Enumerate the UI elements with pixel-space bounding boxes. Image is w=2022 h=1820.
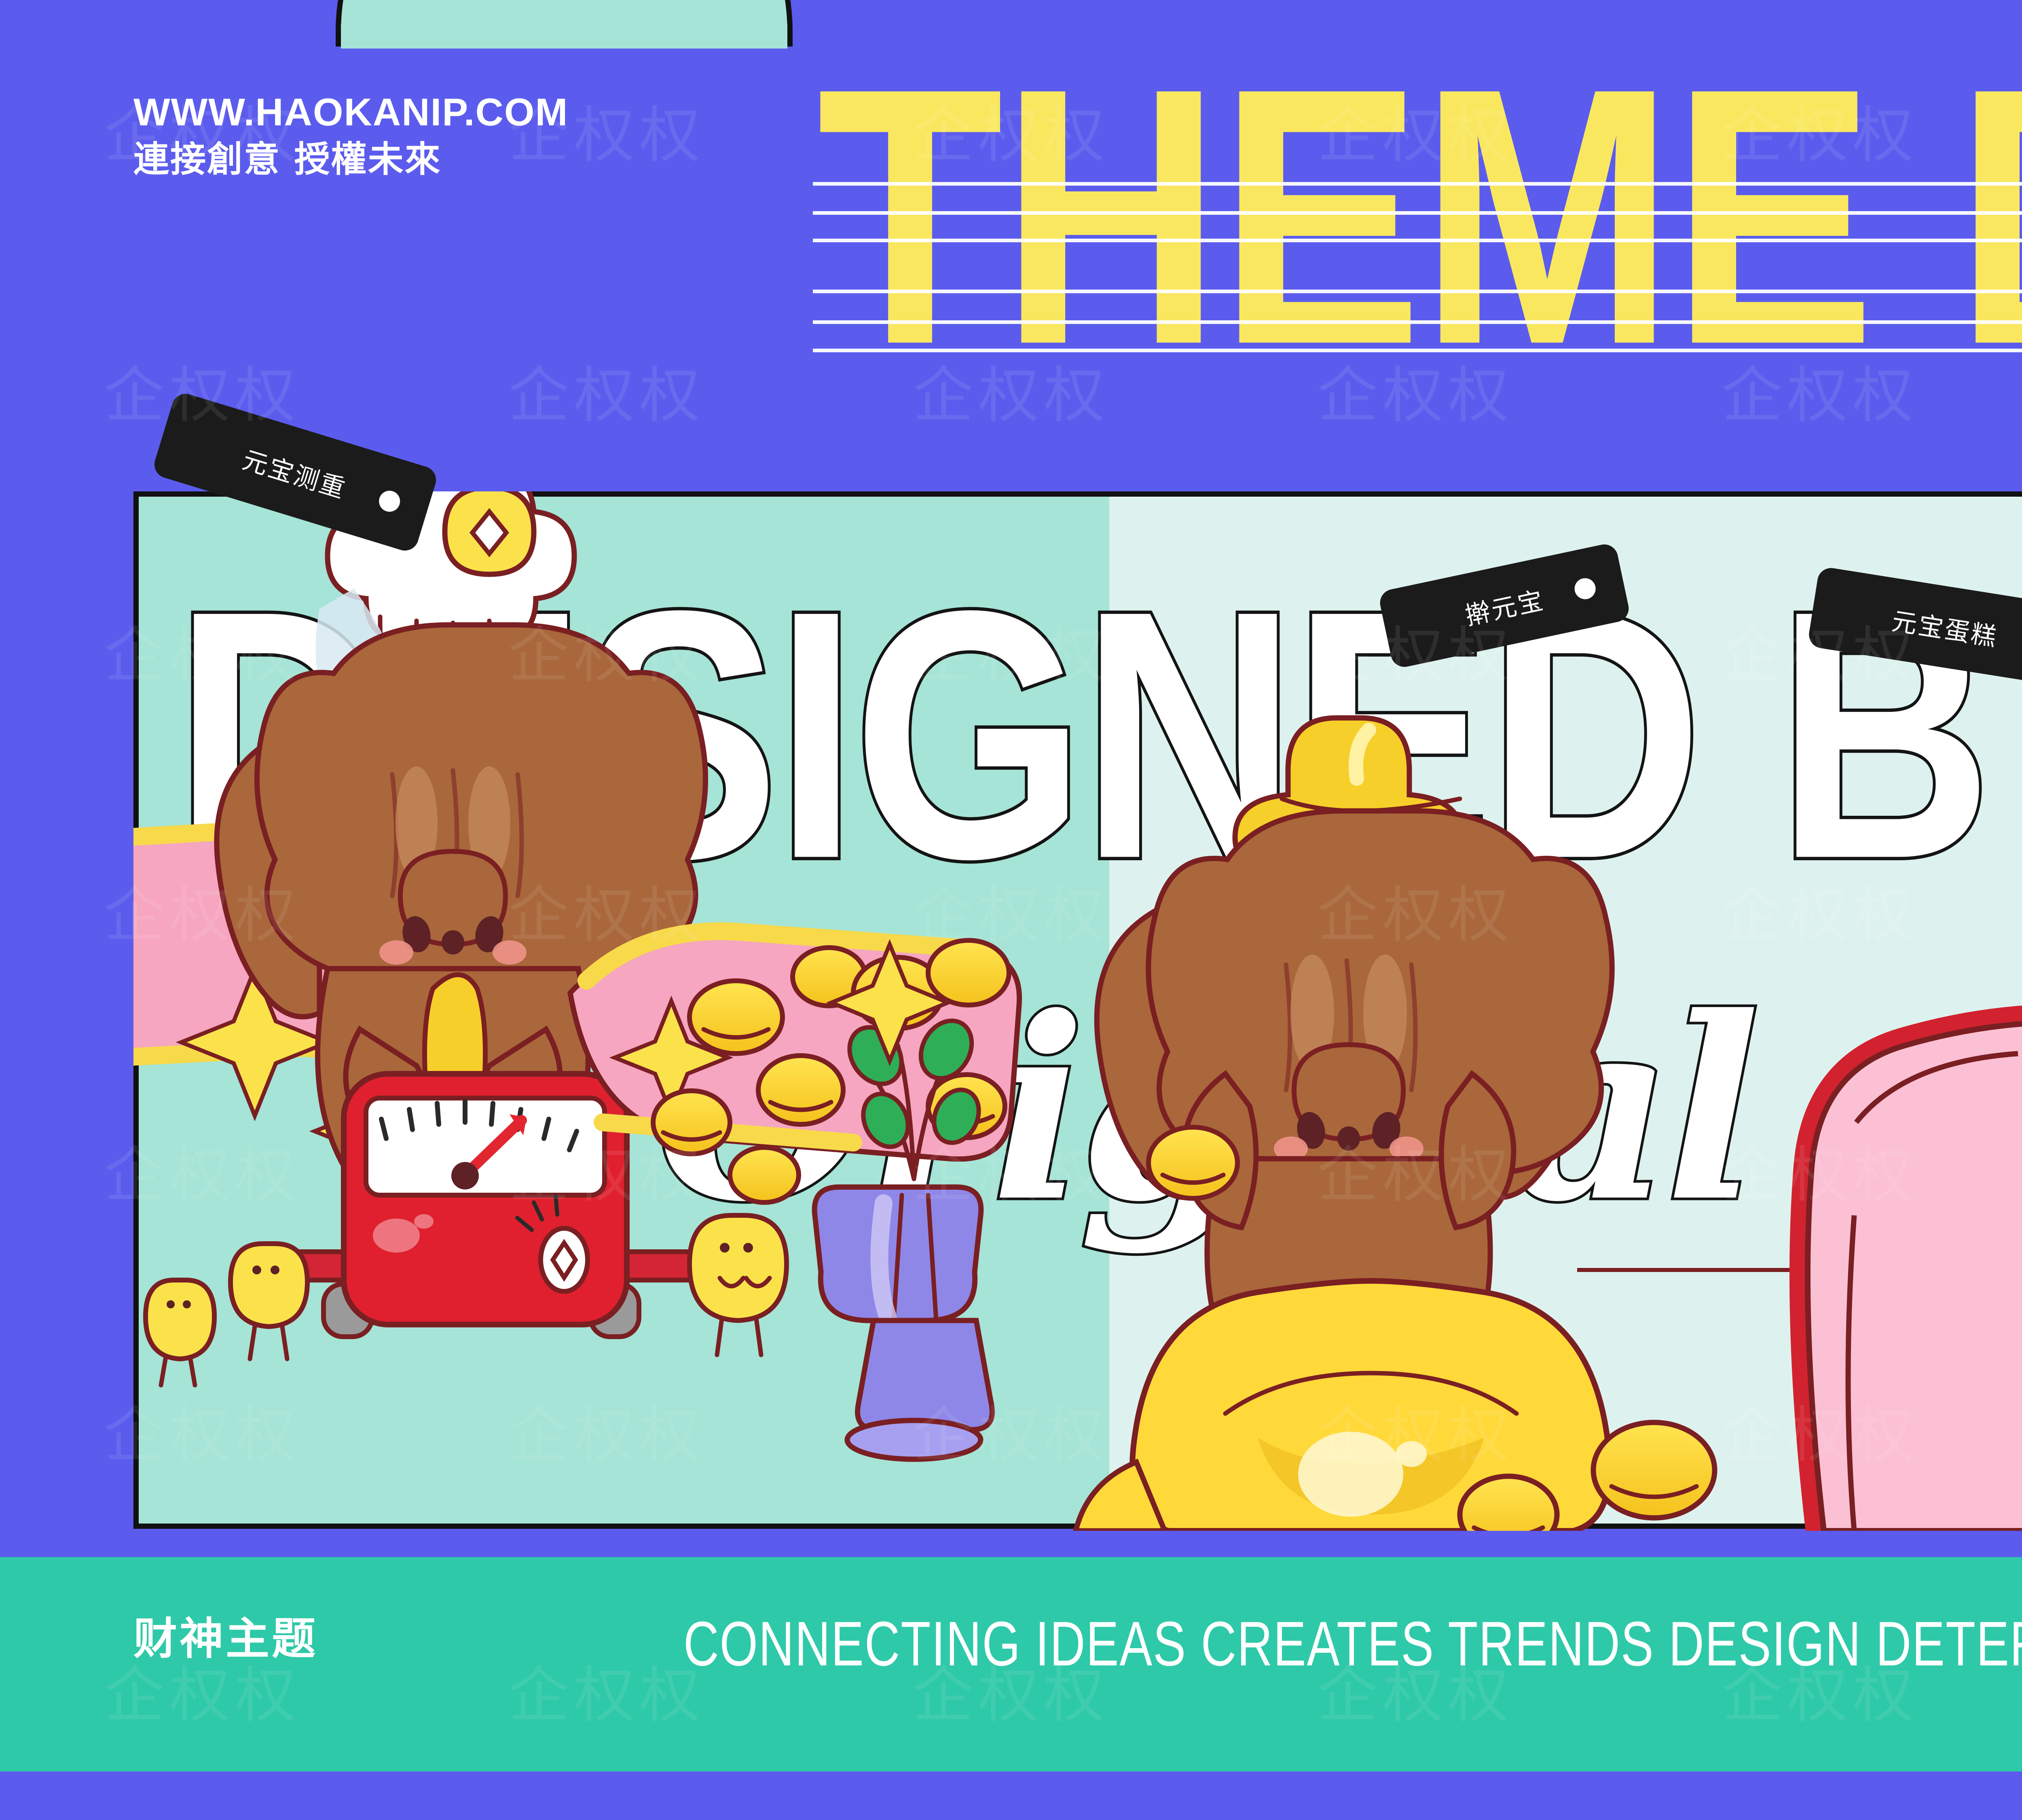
watermark-text: 企权权 (404, 260, 809, 520)
illustration-artwork (133, 491, 2022, 1531)
brand-block: WWW.HAOKANIP.COM 連接創意 授權未來 (133, 93, 568, 177)
toast-bread (1808, 1022, 2022, 1531)
banner-slogan-en: CONNECTING IDEAS CREATES TRENDS DESIGN D… (683, 1608, 2022, 1680)
brand-url: WWW.HAOKANIP.COM (133, 93, 568, 132)
gold-ingot-dough (1076, 1281, 1715, 1531)
middle-scene (570, 718, 1715, 1531)
tag-hole-icon (1573, 576, 1598, 601)
brand-tagline: 連接創意 授權未來 (133, 142, 568, 177)
panel-arch-seam (341, 24, 787, 49)
tag-label: 擀元宝 (1462, 580, 1547, 632)
tag-label: 元宝蛋糕 (1890, 601, 2001, 653)
headline-block: THEME DISPLAY (817, 49, 2022, 364)
banner-title-cn: 财神主题 (133, 1604, 318, 1667)
tag-hole-icon (376, 488, 403, 514)
headline-main: THEME DISPLAY (817, 49, 2022, 385)
tag-label: 元宝测重 (239, 439, 352, 505)
